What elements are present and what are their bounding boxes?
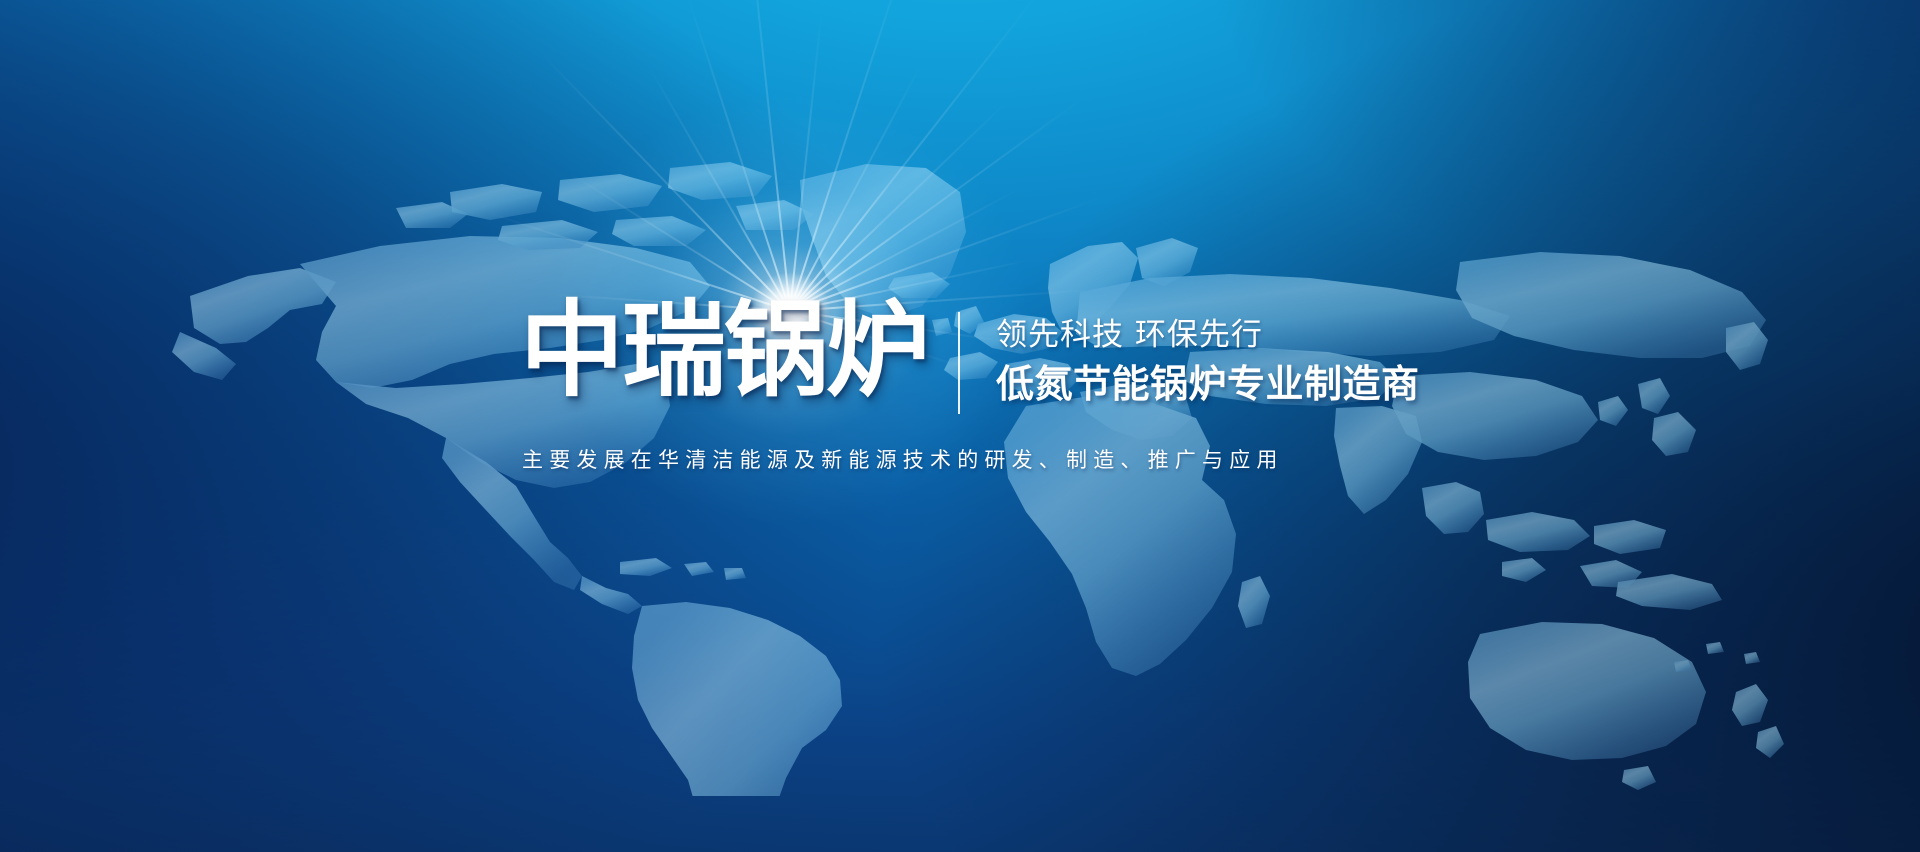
tagline-secondary: 低氮节能锅炉专业制造商: [996, 363, 1420, 407]
hero-banner: 中瑞锅炉 领先科技 环保先行 低氮节能锅炉专业制造商 主要发展在华清洁能源及新能…: [0, 0, 1920, 852]
banner-content: 中瑞锅炉 领先科技 环保先行 低氮节能锅炉专业制造商 主要发展在华清洁能源及新能…: [0, 0, 1920, 852]
brand-logo-text: 中瑞锅炉: [520, 298, 928, 402]
tagline-primary: 领先科技 环保先行: [996, 316, 1420, 355]
banner-subtitle: 主要发展在华清洁能源及新能源技术的研发、制造、推广与应用: [522, 444, 1284, 474]
tagline-block: 领先科技 环保先行 低氮节能锅炉专业制造商: [996, 316, 1420, 406]
vertical-divider: [958, 312, 960, 414]
